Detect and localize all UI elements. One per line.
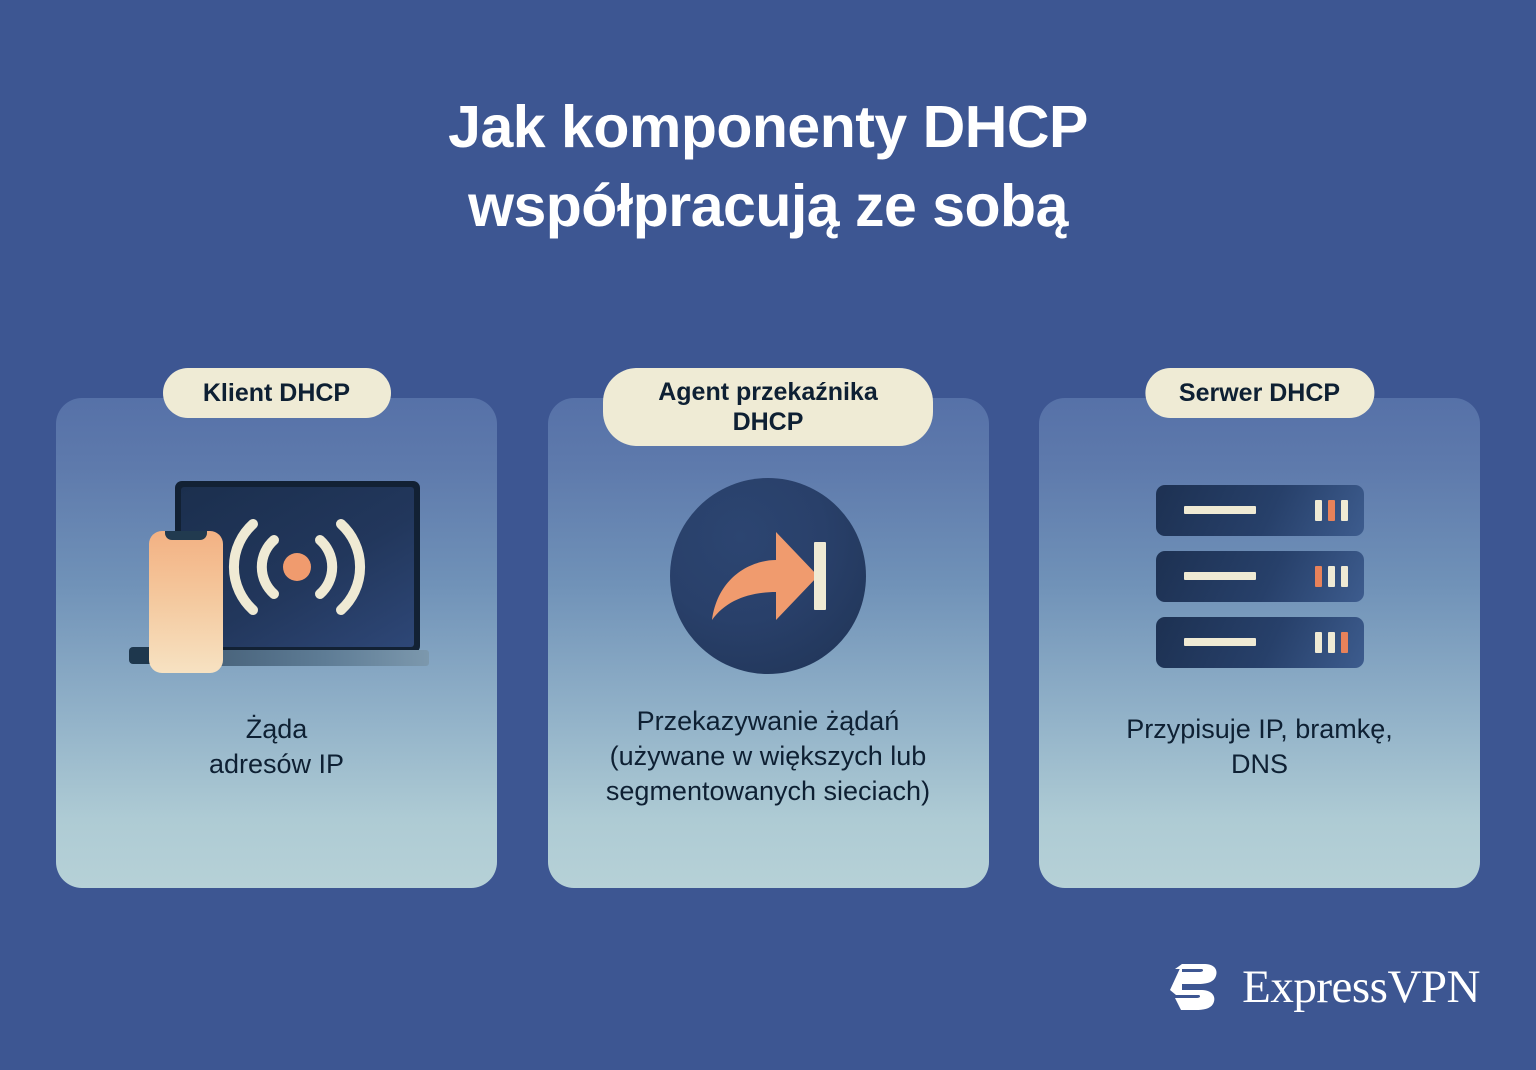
server-rack-icon bbox=[1039, 398, 1480, 698]
laptop-phone-wifi-icon bbox=[56, 398, 497, 698]
page-title-line-1: Jak komponenty DHCP bbox=[0, 88, 1536, 167]
server-led-group bbox=[1315, 566, 1348, 587]
page-title: Jak komponenty DHCP współpracują ze sobą bbox=[0, 88, 1536, 246]
relay-circle bbox=[670, 478, 866, 674]
server-led-on bbox=[1328, 500, 1335, 521]
server-slot-bar bbox=[1184, 572, 1256, 580]
card-dhcp-client: Klient DHCP bbox=[56, 398, 497, 888]
smartphone-icon bbox=[149, 531, 223, 673]
server-stack bbox=[1156, 485, 1364, 668]
component-cards-row: Klient DHCP bbox=[56, 398, 1480, 888]
expressvpn-wordmark: ExpressVPN bbox=[1242, 960, 1480, 1014]
server-led-off bbox=[1341, 566, 1348, 587]
card-caption-dhcp-relay-agent: Przekazywanie żądań (używane w większych… bbox=[592, 704, 944, 809]
phone-notch bbox=[165, 531, 207, 540]
server-unit bbox=[1156, 617, 1364, 668]
expressvpn-logo: ExpressVPN bbox=[1162, 956, 1480, 1018]
server-led-off bbox=[1315, 632, 1322, 653]
card-label-dhcp-client: Klient DHCP bbox=[163, 368, 391, 418]
server-led-off bbox=[1341, 500, 1348, 521]
wifi-signal-icon bbox=[222, 512, 372, 622]
server-led-on bbox=[1315, 566, 1322, 587]
server-led-on bbox=[1341, 632, 1348, 653]
server-led-off bbox=[1315, 500, 1322, 521]
card-dhcp-relay-agent: Agent przekaźnika DHCP Przekazywanie żąd… bbox=[548, 398, 989, 888]
server-led-group bbox=[1315, 500, 1348, 521]
server-led-off bbox=[1328, 632, 1335, 653]
expressvpn-e-logo-icon bbox=[1162, 956, 1224, 1018]
card-dhcp-server: Serwer DHCP Przypisuje IP, bramkę, DNS bbox=[1039, 398, 1480, 888]
card-label-dhcp-relay-agent: Agent przekaźnika DHCP bbox=[603, 368, 933, 446]
card-label-dhcp-server: Serwer DHCP bbox=[1145, 368, 1374, 418]
server-led-off bbox=[1328, 566, 1335, 587]
server-unit bbox=[1156, 551, 1364, 602]
server-unit bbox=[1156, 485, 1364, 536]
server-slot-bar bbox=[1184, 638, 1256, 646]
forward-arrow-icon bbox=[704, 524, 832, 628]
page-title-line-2: współpracują ze sobą bbox=[0, 167, 1536, 246]
card-caption-dhcp-server: Przypisuje IP, bramkę, DNS bbox=[1112, 712, 1407, 782]
server-led-group bbox=[1315, 632, 1348, 653]
card-caption-dhcp-client: Żąda adresów IP bbox=[195, 712, 358, 782]
server-slot-bar bbox=[1184, 506, 1256, 514]
